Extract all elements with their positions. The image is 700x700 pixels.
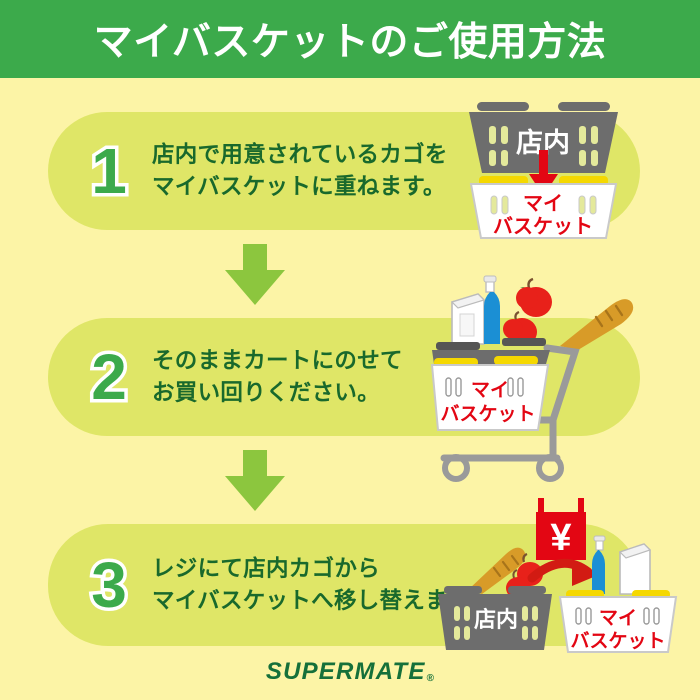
my-basket-label-line2: バスケット [570, 630, 665, 652]
my-basket-white: マイ バスケット [432, 356, 548, 430]
store-basket-gray: 店内 [438, 586, 552, 650]
step-3-content: 3 レジにて店内カゴから マイバスケットへ移し替えます。 [78, 524, 491, 646]
step-number-2: 2 [78, 345, 140, 409]
trademark-symbol: ® [427, 673, 436, 684]
yen-symbol-icon: ¥ [550, 517, 571, 559]
store-basket-label: 店内 [474, 607, 518, 632]
step-1-content: 1 店内で用意されているカゴを マイバスケットに重ねます。 [78, 112, 448, 230]
my-basket-label-line1: マイ [471, 380, 509, 401]
my-basket-white: マイ バスケット [471, 176, 616, 238]
step-text-1: 店内で用意されているカゴを マイバスケットに重ねます。 [152, 139, 448, 203]
baguette-icon [560, 299, 633, 350]
brand-logo: SUPERMATE® [266, 658, 434, 686]
red-apples-icon [503, 279, 552, 346]
step-number-1: 1 [78, 139, 140, 203]
curved-arrow-red-icon [532, 560, 596, 586]
step-2-illustration: マイ バスケット [432, 272, 682, 490]
my-basket-white: マイ バスケット [560, 590, 676, 652]
blue-bottle-icon [484, 276, 500, 344]
step-text-2: そのままカートにのせて お買い回りください。 [152, 345, 403, 409]
step-number-3: 3 [78, 553, 140, 617]
my-basket-label-line2: バスケット [440, 403, 535, 425]
my-basket-label-line1: マイ [523, 193, 563, 215]
flow-arrow-2-to-3 [223, 450, 287, 512]
infographic-page: マイバスケットのご使用方法 1 店内で用意されているカゴを マイバスケットに重ね… [0, 0, 700, 700]
grocery-items-right [592, 536, 650, 594]
brand-name: SUPERMATE [266, 658, 426, 685]
step-1-illustration: 店内 マイ バスケット [455, 88, 680, 240]
step-2-content: 2 そのままカートにのせて お買い回りください。 [78, 318, 403, 436]
milk-carton-icon [620, 544, 650, 594]
blue-bottle-icon [592, 536, 605, 594]
page-header: マイバスケットのご使用方法 [0, 0, 700, 78]
my-basket-label-line1: マイ [599, 608, 637, 629]
footer: SUPERMATE® [0, 658, 700, 686]
register-sign-yen: ¥ [536, 498, 586, 560]
my-basket-label-line2: バスケット [493, 215, 593, 238]
step-3-illustration: ¥ [432, 494, 684, 654]
milk-carton-icon [452, 294, 484, 344]
flow-arrow-1-to-2 [223, 244, 287, 306]
page-title: マイバスケットのご使用方法 [94, 11, 607, 67]
